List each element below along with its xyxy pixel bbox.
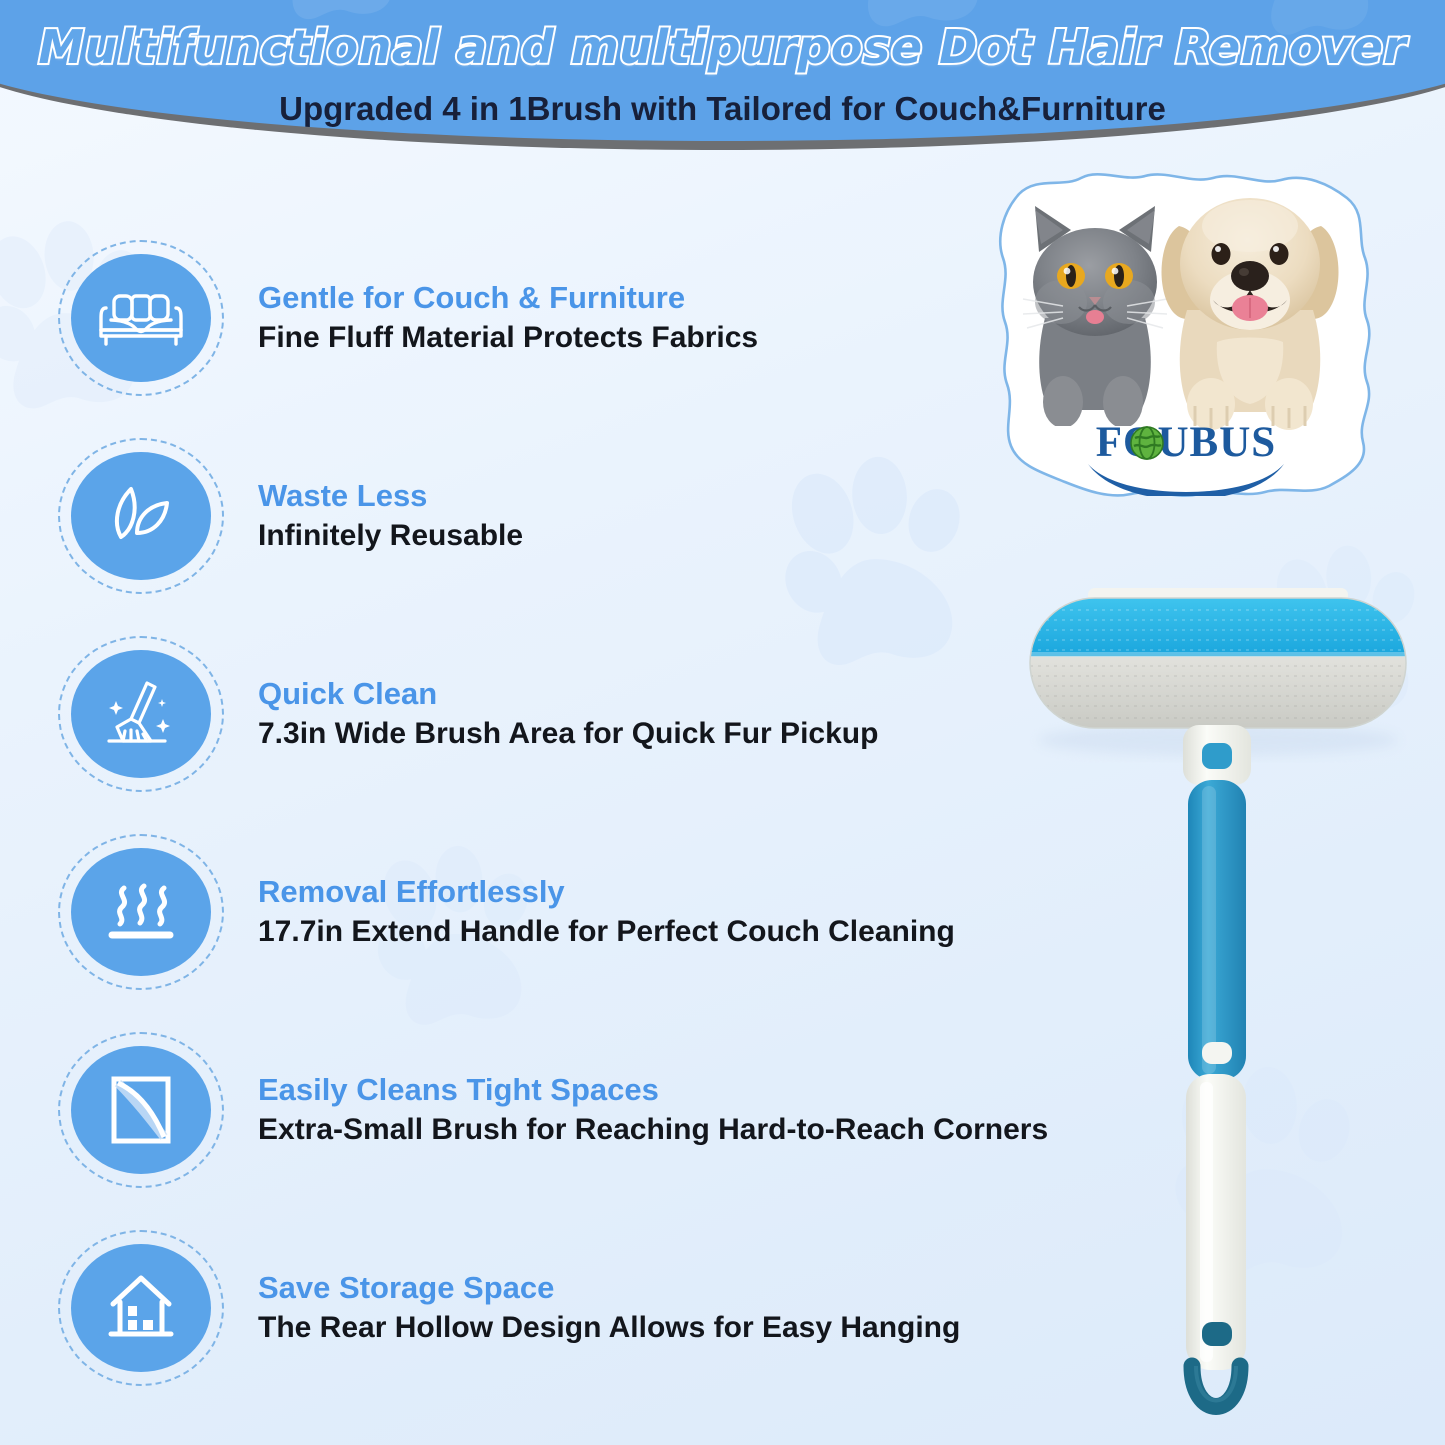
header-banner: Multifunctional and multipurpose Dot Hai…	[0, 0, 1445, 150]
feature-subtitle: Infinitely Reusable	[258, 519, 1162, 554]
house-icon	[103, 1270, 179, 1346]
header-content: Multifunctional and multipurpose Dot Hai…	[0, 0, 1445, 150]
feature-title: Gentle for Couch & Furniture	[258, 280, 1162, 316]
badge-circle	[71, 848, 211, 976]
feature-row: Save Storage Space The Rear Hollow Desig…	[52, 1228, 1162, 1388]
heat-waves-icon	[104, 880, 178, 944]
feature-badge	[52, 832, 230, 992]
badge-circle	[71, 1046, 211, 1174]
couch-icon	[98, 286, 184, 350]
feature-text: Waste Less Infinitely Reusable	[230, 478, 1162, 553]
leaves-icon	[107, 483, 175, 549]
badge-circle	[71, 1244, 211, 1372]
dog-photo	[1135, 160, 1365, 430]
badge-circle	[71, 254, 211, 382]
feature-badge	[52, 238, 230, 398]
page-subtitle: Upgraded 4 in 1Brush with Tailored for C…	[0, 90, 1445, 128]
feature-badge	[52, 1030, 230, 1190]
page-title: Multifunctional and multipurpose Dot Hai…	[0, 20, 1445, 74]
tight-space-icon	[106, 1073, 176, 1147]
badge-circle	[71, 650, 211, 778]
product-infographic: Multifunctional and multipurpose Dot Hai…	[0, 0, 1445, 1445]
feature-row: Easily Cleans Tight Spaces Extra-Small B…	[52, 1030, 1162, 1190]
badge-circle	[71, 452, 211, 580]
feature-badge	[52, 1228, 230, 1388]
feature-row: Gentle for Couch & Furniture Fine Fluff …	[52, 238, 1162, 398]
feature-row: Quick Clean 7.3in Wide Brush Area for Qu…	[52, 634, 1162, 794]
broom-sparkle-icon	[103, 679, 179, 749]
feature-row: Waste Less Infinitely Reusable	[52, 436, 1162, 596]
feature-title: Waste Less	[258, 478, 1162, 514]
feature-badge	[52, 436, 230, 596]
feature-text: Gentle for Couch & Furniture Fine Fluff …	[230, 280, 1162, 355]
product-photo	[1010, 580, 1430, 1430]
feature-badge	[52, 634, 230, 794]
feature-row: Removal Effortlessly 17.7in Extend Handl…	[52, 832, 1162, 992]
feature-subtitle: Fine Fluff Material Protects Fabrics	[258, 321, 1162, 356]
